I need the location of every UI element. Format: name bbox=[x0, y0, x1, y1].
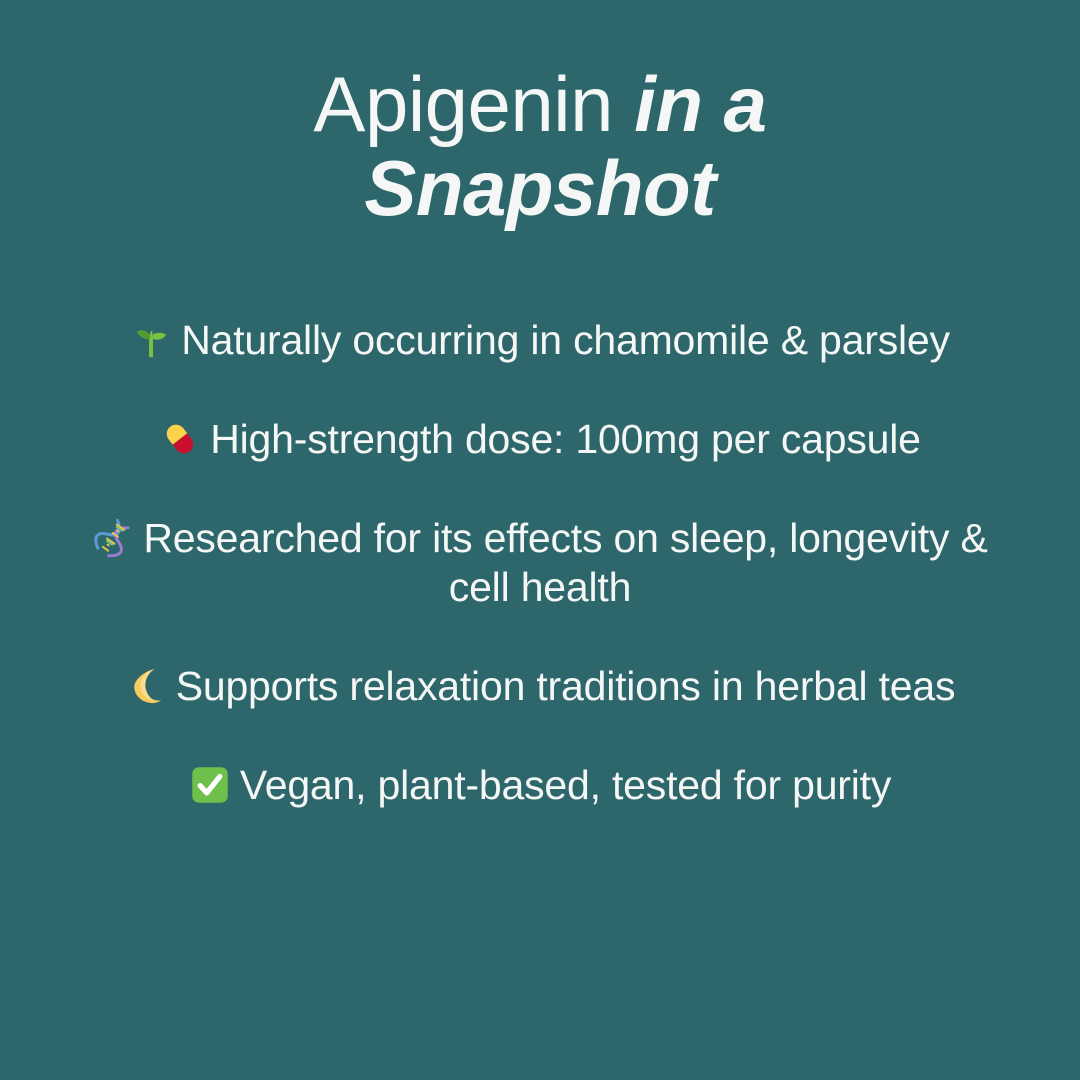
list-item-label: Vegan, plant-based, tested for purity bbox=[240, 762, 891, 808]
feature-list: Naturally occurring in chamomile & parsl… bbox=[40, 316, 1040, 810]
list-item-label: Supports relaxation traditions in herbal… bbox=[176, 663, 956, 709]
list-item: Naturally occurring in chamomile & parsl… bbox=[70, 316, 1010, 365]
seedling-icon bbox=[130, 319, 172, 361]
title-line-2: Snapshot bbox=[40, 146, 1040, 230]
check-mark-button-icon bbox=[189, 764, 231, 806]
pill-icon bbox=[159, 418, 201, 460]
list-item: Researched for its effects on sleep, lon… bbox=[70, 514, 1010, 612]
title-emphasis-text: in a bbox=[634, 60, 766, 148]
infographic-card: Apigenin in a Snapshot Naturally occurri… bbox=[0, 0, 1080, 1080]
page-title: Apigenin in a Snapshot bbox=[40, 62, 1040, 230]
list-item-label: Researched for its effects on sleep, lon… bbox=[143, 515, 987, 610]
crescent-moon-icon bbox=[125, 665, 167, 707]
list-item: High-strength dose: 100mg per capsule bbox=[70, 415, 1010, 464]
list-item-label: High-strength dose: 100mg per capsule bbox=[210, 416, 921, 462]
title-plain-text: Apigenin bbox=[313, 60, 634, 148]
title-line-1: Apigenin in a bbox=[40, 62, 1040, 146]
list-item: Supports relaxation traditions in herbal… bbox=[70, 662, 1010, 711]
list-item: Vegan, plant-based, tested for purity bbox=[70, 761, 1010, 810]
dna-icon bbox=[92, 517, 134, 559]
title-emphasis-text-2: Snapshot bbox=[364, 144, 715, 232]
list-item-label: Naturally occurring in chamomile & parsl… bbox=[181, 317, 950, 363]
